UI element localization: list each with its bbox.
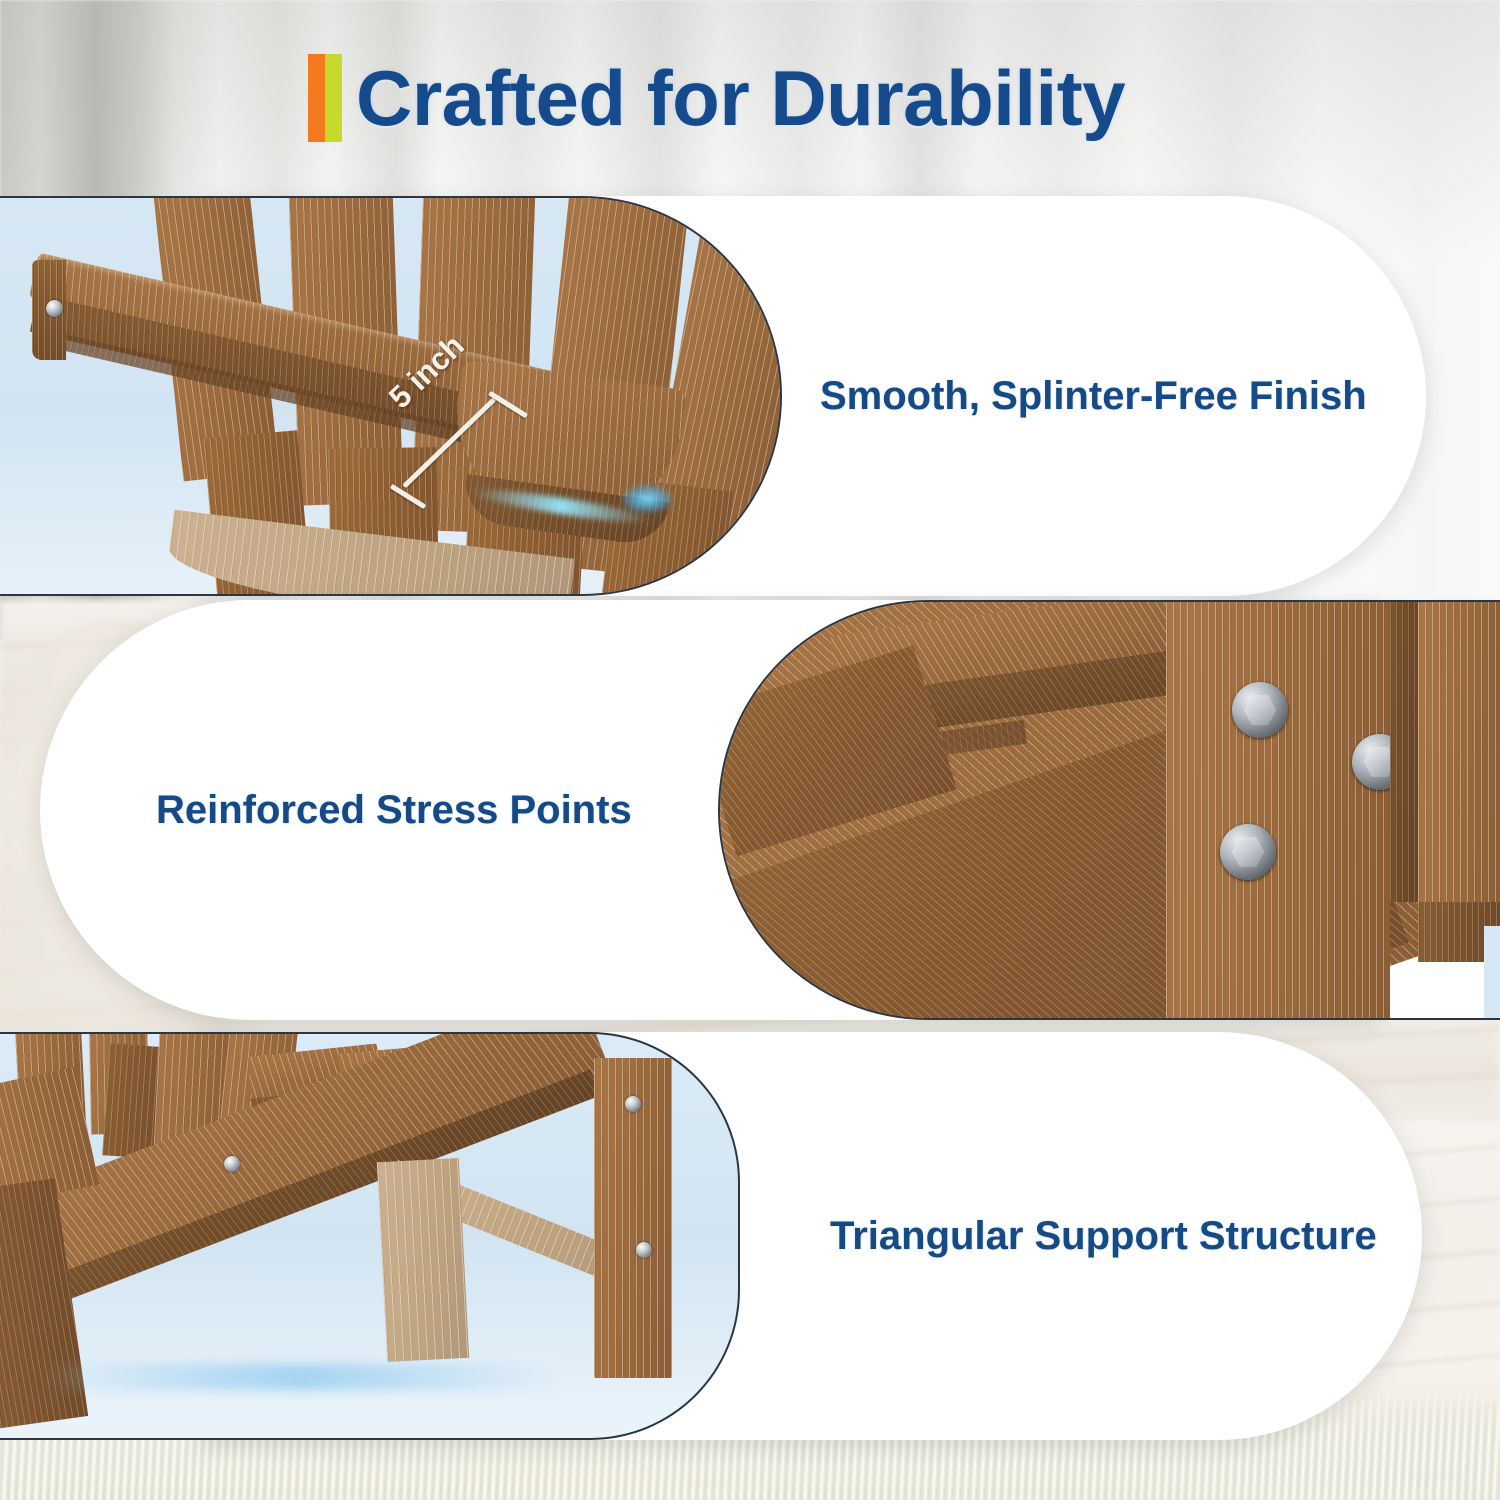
panel-reinforced-photo — [718, 600, 1500, 1020]
panel-reinforced-stress-points: Reinforced Stress Points — [0, 600, 1500, 1020]
leg-screw-icon — [625, 1096, 641, 1112]
panel-smooth-finish: Smooth, Splinter-Free Finish — [0, 196, 1500, 596]
header: Crafted for Durability — [0, 0, 1500, 196]
panel-triangular-support: Triangular Support Structure — [0, 1032, 1500, 1440]
triangular-brace-leg — [377, 1158, 469, 1362]
leg-screw-icon — [636, 1242, 652, 1258]
accent-bar-orange-icon — [308, 54, 325, 142]
bolted-post — [1166, 602, 1390, 1020]
title-group: Crafted for Durability — [308, 53, 1125, 144]
panel-smooth-finish-caption: Smooth, Splinter-Free Finish — [820, 374, 1367, 419]
rail-screw-icon — [224, 1156, 240, 1172]
hex-bolt-icon — [1220, 824, 1276, 880]
accent-bar-lime-icon — [325, 54, 342, 142]
panel-triangular-caption: Triangular Support Structure — [830, 1214, 1377, 1259]
armrest-screw-icon — [46, 300, 63, 317]
panel-triangular-photo — [0, 1032, 740, 1440]
panel-reinforced-caption: Reinforced Stress Points — [156, 788, 632, 833]
panel-smooth-finish-photo: 5 inch — [0, 196, 782, 596]
page-title: Crafted for Durability — [356, 53, 1125, 144]
hex-bolt-icon — [1232, 682, 1288, 738]
